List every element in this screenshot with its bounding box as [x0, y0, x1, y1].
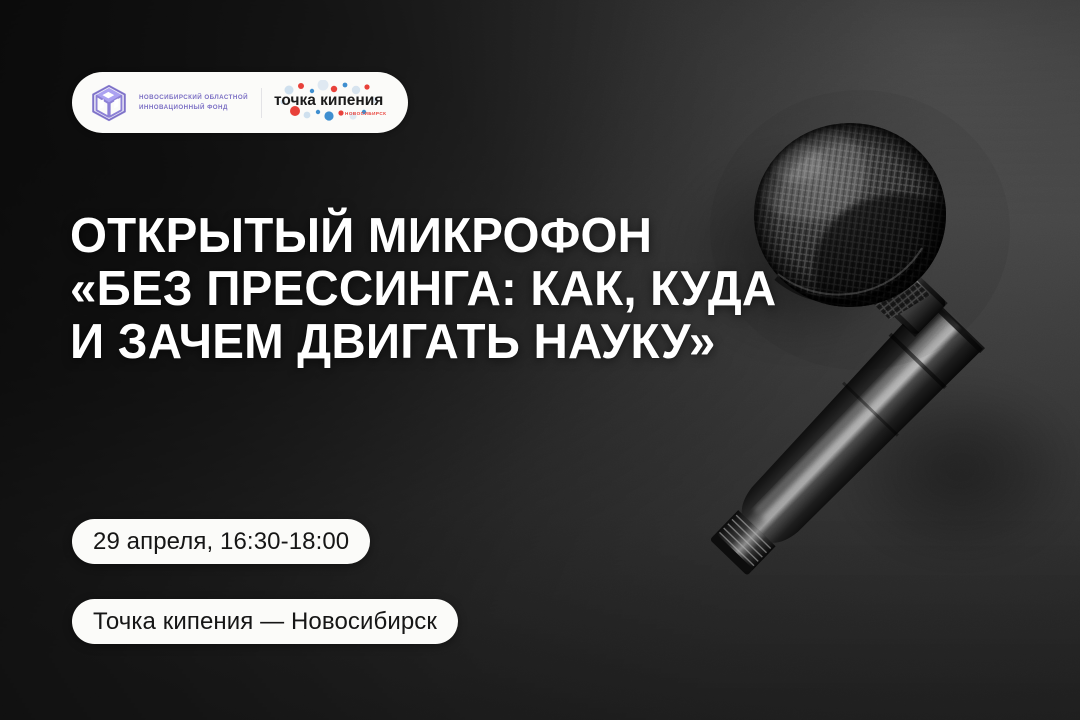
fund-logo-line2: ИННОВАЦИОННЫЙ ФОНД [139, 103, 248, 113]
title-line-2: «БЕЗ ПРЕССИНГА: КАК, КУДА [70, 263, 875, 316]
title-line-1: ОТКРЫТЫЙ МИКРОФОН [70, 210, 875, 263]
event-poster: НОВОСИБИРСКИЙ ОБЛАСТНОЙ ИННОВАЦИОННЫЙ ФО… [0, 0, 1080, 720]
boiling-point-logo: точка кипения НОВОСИБИРСК [271, 80, 391, 126]
fund-logo-line1: НОВОСИБИРСКИЙ ОБЛАСТНОЙ [139, 93, 248, 103]
event-datetime-badge: 29 апреля, 16:30-18:00 [72, 519, 370, 564]
partner-logo-bar: НОВОСИБИРСКИЙ ОБЛАСТНОЙ ИННОВАЦИОННЫЙ ФО… [72, 72, 408, 133]
logo-divider [261, 88, 262, 118]
fund-logo-text: НОВОСИБИРСКИЙ ОБЛАСТНОЙ ИННОВАЦИОННЫЙ ФО… [139, 93, 248, 112]
title-line-3: И ЗАЧЕМ ДВИГАТЬ НАУКУ» [70, 316, 875, 369]
cube-logo-icon [88, 82, 130, 124]
boiling-point-wordmark: точка кипения [274, 92, 383, 109]
boiling-point-city: НОВОСИБИРСК [345, 111, 386, 116]
event-venue-badge: Точка кипения — Новосибирск [72, 599, 458, 644]
page-title: ОТКРЫТЫЙ МИКРОФОН «БЕЗ ПРЕССИНГА: КАК, К… [70, 210, 900, 369]
fund-logo: НОВОСИБИРСКИЙ ОБЛАСТНОЙ ИННОВАЦИОННЫЙ ФО… [88, 82, 248, 124]
